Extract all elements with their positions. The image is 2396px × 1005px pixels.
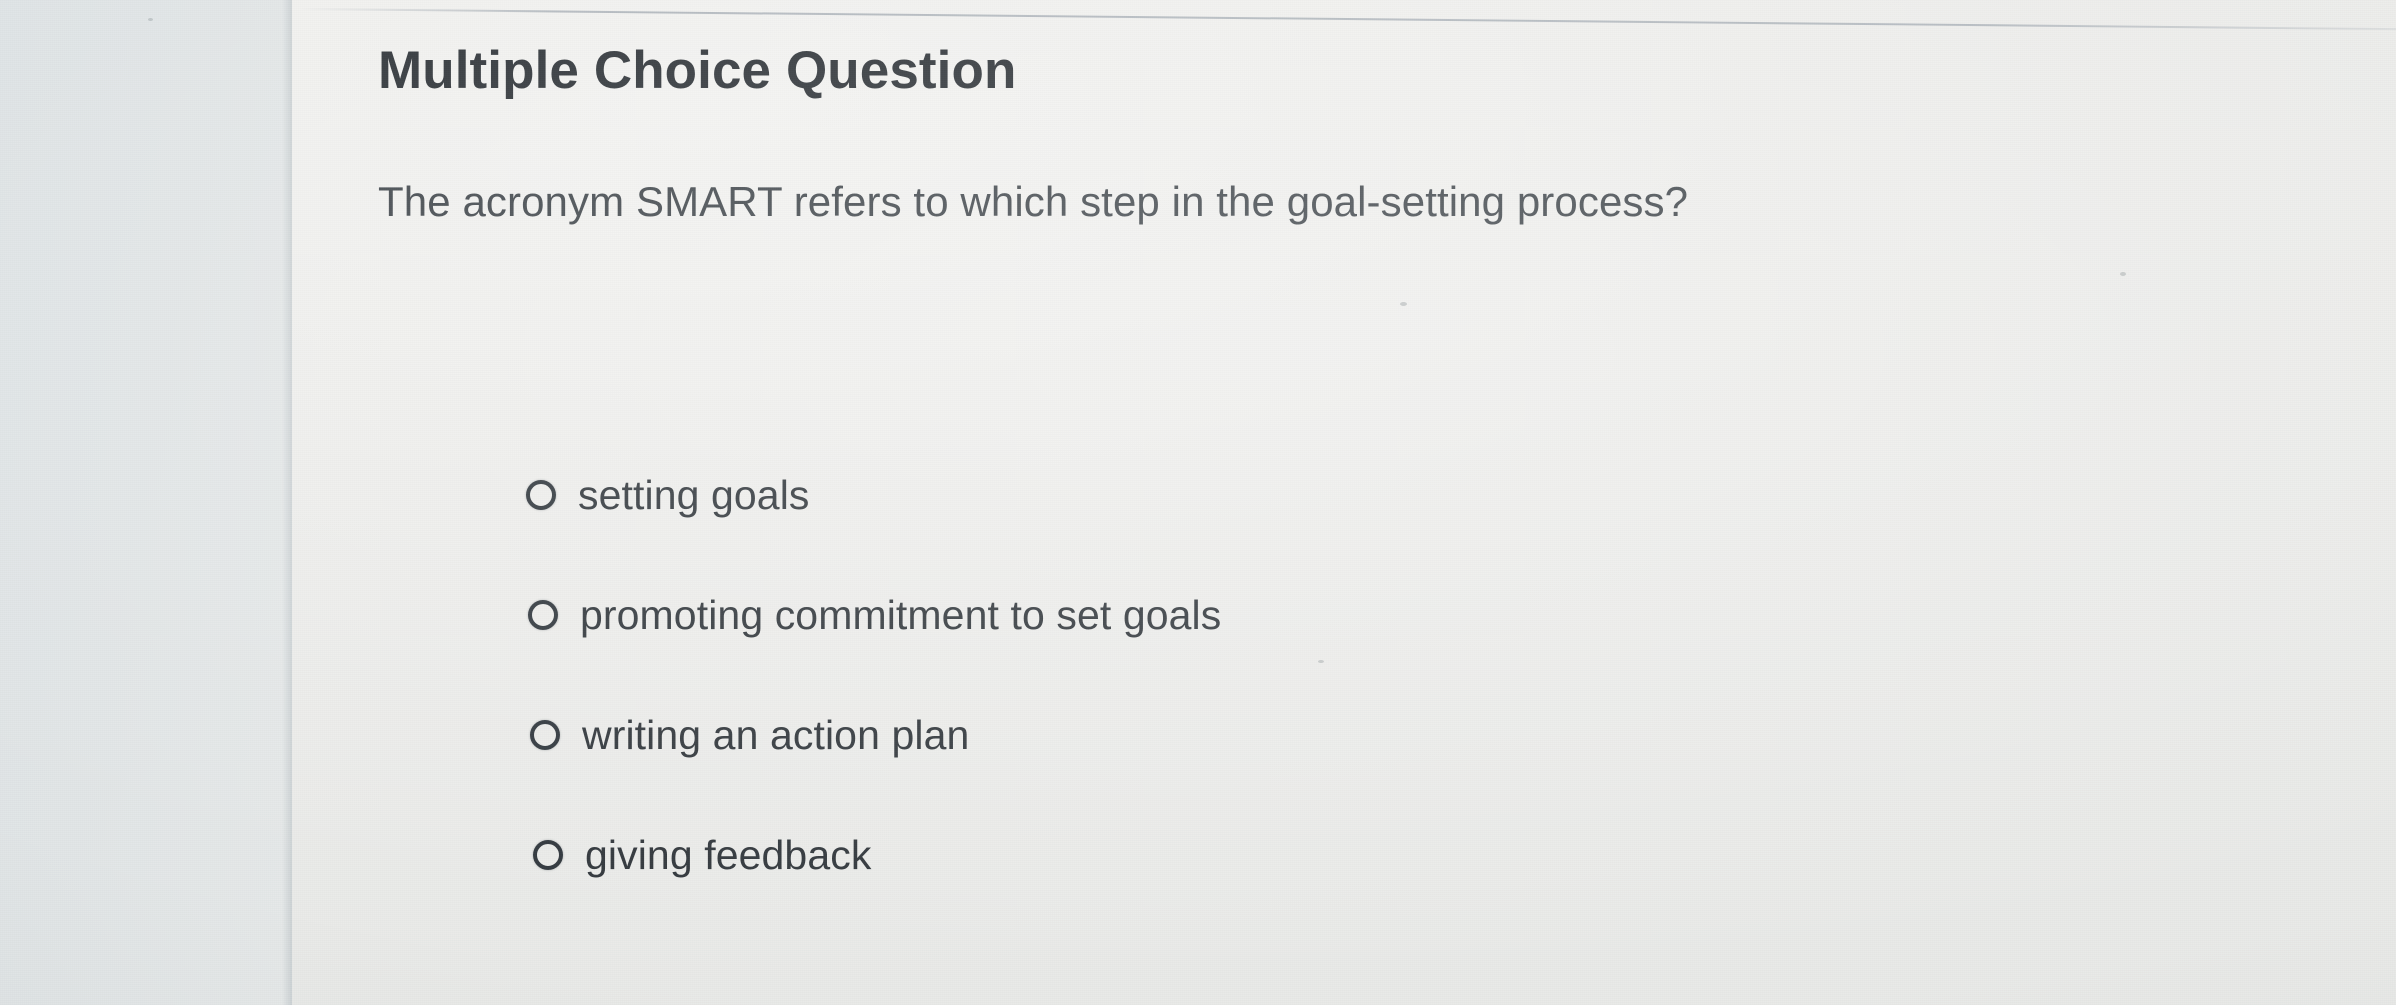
answer-option-a[interactable]: setting goals — [526, 464, 2126, 526]
radio-button-icon-d[interactable] — [533, 840, 563, 870]
screenshot-scene: Multiple Choice Question The acronym SMA… — [0, 0, 2396, 1005]
answer-option-label-a: setting goals — [578, 472, 810, 519]
answer-option-label-b: promoting commitment to set goals — [580, 592, 1221, 639]
answer-options-list: setting goals promoting commitment to se… — [526, 464, 2126, 944]
answer-option-d[interactable]: giving feedback — [533, 824, 2126, 886]
radio-button-icon-a[interactable] — [526, 480, 556, 510]
answer-option-label-c: writing an action plan — [582, 712, 969, 759]
page-title: Multiple Choice Question — [378, 40, 1016, 101]
answer-option-label-d: giving feedback — [585, 832, 871, 879]
radio-button-icon-b[interactable] — [528, 600, 558, 630]
answer-option-b[interactable]: promoting commitment to set goals — [528, 584, 2126, 646]
radio-button-icon-c[interactable] — [530, 720, 560, 750]
question-panel: Multiple Choice Question The acronym SMA… — [292, 0, 2396, 1005]
question-prompt: The acronym SMART refers to which step i… — [378, 178, 1688, 226]
answer-option-c[interactable]: writing an action plan — [530, 704, 2126, 766]
left-edge-band — [0, 0, 292, 1005]
